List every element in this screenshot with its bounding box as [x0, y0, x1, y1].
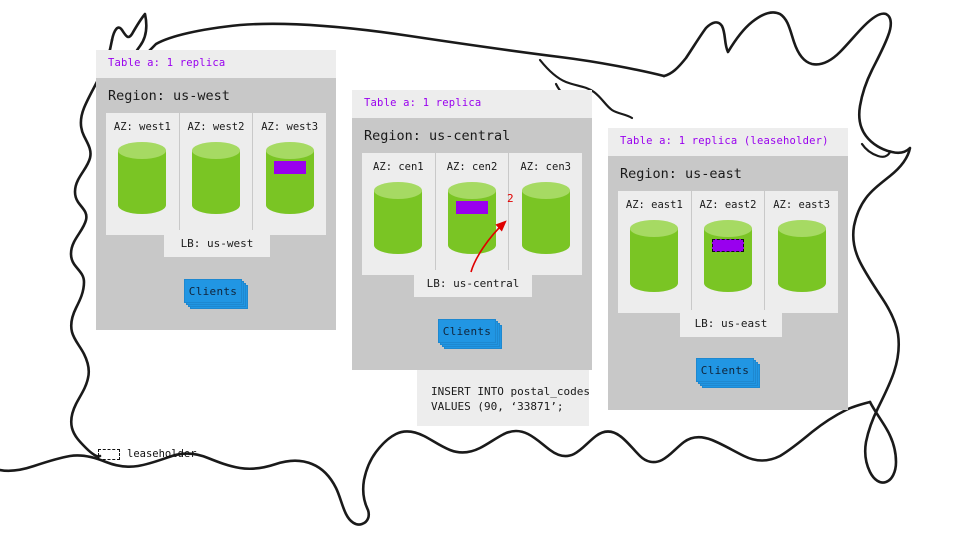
cylinder-west2	[192, 142, 240, 214]
replica-chip-cen2	[456, 201, 488, 214]
cylinder-west1	[118, 142, 166, 214]
clients-stack-us-west[interactable]: Clients	[184, 279, 250, 311]
region-title-us-east: Region: us-east	[608, 156, 848, 191]
cylinder-top	[778, 220, 826, 237]
cylinder-body	[448, 190, 496, 254]
az-label-west2: AZ: west2	[188, 121, 245, 133]
region-header-us-east: Table a: 1 replica (leaseholder)	[608, 128, 848, 156]
sql-line-1: INSERT INTO postal_codes	[431, 385, 590, 398]
cylinder-top	[522, 182, 570, 199]
leaseholder-chip-east2	[712, 239, 744, 252]
cylinder-west3	[266, 142, 314, 214]
clients-button-us-central[interactable]: Clients	[438, 319, 496, 343]
sql-line-2: VALUES (90, ‘33871’;	[431, 400, 563, 413]
region-title-us-west: Region: us-west	[96, 78, 336, 113]
cylinder-body	[118, 150, 166, 214]
az-cell-east1[interactable]: AZ: east1	[618, 191, 692, 313]
lb-box-us-east[interactable]: LB: us-east	[680, 310, 782, 337]
az-label-east1: AZ: east1	[626, 199, 683, 211]
cylinder-body	[630, 228, 678, 292]
cylinder-top	[630, 220, 678, 237]
cylinder-top	[704, 220, 752, 237]
cylinder-top	[374, 182, 422, 199]
az-label-cen3: AZ: cen3	[520, 161, 571, 173]
az-cell-cen1[interactable]: AZ: cen1	[362, 153, 436, 275]
cylinder-top	[192, 142, 240, 159]
clients-button-us-east[interactable]: Clients	[696, 358, 754, 382]
cylinder-cen2	[448, 182, 496, 254]
az-row-us-east: AZ: east1 AZ: east2 AZ: east3	[618, 191, 838, 313]
lb-box-us-west[interactable]: LB: us-west	[164, 230, 270, 257]
region-panel-us-west: Table a: 1 replica Region: us-west AZ: w…	[96, 50, 336, 330]
az-cell-east3[interactable]: AZ: east3	[765, 191, 838, 313]
az-label-cen2: AZ: cen2	[447, 161, 498, 173]
diagram-canvas: Table a: 1 replica Region: us-west AZ: w…	[0, 0, 960, 540]
clients-button-us-west[interactable]: Clients	[184, 279, 242, 303]
cylinder-body	[266, 150, 314, 214]
arrow-label-2: 2	[507, 192, 514, 205]
cylinder-east1	[630, 220, 678, 292]
clients-stack-us-central[interactable]: Clients	[438, 319, 504, 351]
az-label-east3: AZ: east3	[773, 199, 830, 211]
az-label-east2: AZ: east2	[700, 199, 757, 211]
cylinder-top	[266, 142, 314, 159]
legend: leaseholder	[98, 448, 197, 460]
cylinder-cen1	[374, 182, 422, 254]
az-cell-west1[interactable]: AZ: west1	[106, 113, 180, 235]
region-panel-us-east: Table a: 1 replica (leaseholder) Region:…	[608, 128, 848, 410]
lb-box-us-central[interactable]: LB: us-central	[414, 270, 532, 297]
az-cell-west2[interactable]: AZ: west2	[180, 113, 254, 235]
legend-label: leaseholder	[127, 448, 197, 460]
sql-statement-box: INSERT INTO postal_codes VALUES (90, ‘33…	[417, 370, 589, 426]
region-title-us-central: Region: us-central	[352, 118, 592, 153]
az-cell-cen2[interactable]: AZ: cen2	[436, 153, 510, 275]
dashed-rect-icon	[98, 449, 120, 460]
cylinder-body	[522, 190, 570, 254]
cylinder-cen3	[522, 182, 570, 254]
az-label-west3: AZ: west3	[261, 121, 318, 133]
az-cell-west3[interactable]: AZ: west3	[253, 113, 326, 235]
region-panel-us-central: Table a: 1 replica Region: us-central AZ…	[352, 90, 592, 370]
region-header-us-west: Table a: 1 replica	[96, 50, 336, 78]
cylinder-east2	[704, 220, 752, 292]
cylinder-body	[704, 228, 752, 292]
region-header-us-central: Table a: 1 replica	[352, 90, 592, 118]
az-label-cen1: AZ: cen1	[373, 161, 424, 173]
cylinder-east3	[778, 220, 826, 292]
az-cell-east2[interactable]: AZ: east2	[692, 191, 766, 313]
cylinder-body	[778, 228, 826, 292]
cylinder-top	[448, 182, 496, 199]
az-row-us-central: AZ: cen1 AZ: cen2 AZ: cen3	[362, 153, 582, 275]
az-cell-cen3[interactable]: AZ: cen3	[509, 153, 582, 275]
cylinder-body	[192, 150, 240, 214]
replica-chip-west3	[274, 161, 306, 174]
az-row-us-west: AZ: west1 AZ: west2 AZ: west3	[106, 113, 326, 235]
az-label-west1: AZ: west1	[114, 121, 171, 133]
clients-stack-us-east[interactable]: Clients	[696, 358, 762, 390]
cylinder-body	[374, 190, 422, 254]
cylinder-top	[118, 142, 166, 159]
